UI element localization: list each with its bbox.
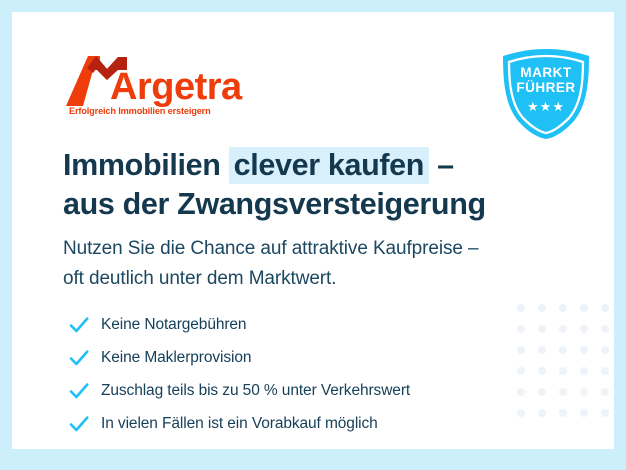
dot-decoration xyxy=(559,346,567,354)
check-icon xyxy=(66,411,92,437)
banner-card: Argetra Erfolgreich Immobilien ersteiger… xyxy=(12,12,614,449)
benefit-label: In vielen Fällen ist ein Vorabkauf mögli… xyxy=(101,415,378,433)
dot-decoration xyxy=(538,346,546,354)
headline-line-2: aus der Zwangsversteigerung xyxy=(63,185,583,224)
logo-tagline: Erfolgreich Immobilien ersteigern xyxy=(69,106,211,116)
dot-decoration xyxy=(601,304,609,312)
subheadline: Nutzen Sie die Chance auf attraktive Kau… xyxy=(63,234,583,294)
headline-text-before: Immobilien xyxy=(63,148,229,182)
check-icon xyxy=(66,345,92,371)
argetra-logo[interactable]: Argetra Erfolgreich Immobilien ersteiger… xyxy=(66,54,266,126)
dot-decoration xyxy=(559,388,567,396)
benefit-list-item: Keine Notargebühren xyxy=(66,310,536,340)
benefit-label: Zuschlag teils bis zu 50 % unter Verkehr… xyxy=(101,382,410,400)
headline-line-1: Immobilien clever kaufen – xyxy=(63,146,583,185)
check-icon xyxy=(66,378,92,404)
dot-decoration xyxy=(580,346,588,354)
benefit-list-item: Zuschlag teils bis zu 50 % unter Verkehr… xyxy=(66,376,536,406)
subheadline-line-2: oft deutlich unter dem Marktwert. xyxy=(63,268,336,289)
dot-decoration xyxy=(538,409,546,417)
dot-decoration xyxy=(559,409,567,417)
dot-decoration xyxy=(538,388,546,396)
subheadline-line-1: Nutzen Sie die Chance auf attraktive Kau… xyxy=(63,238,478,259)
promo-banner: Argetra Erfolgreich Immobilien ersteiger… xyxy=(0,0,626,470)
dot-decoration xyxy=(601,325,609,333)
dot-decoration xyxy=(580,409,588,417)
dot-decoration xyxy=(559,367,567,375)
dot-decoration xyxy=(601,346,609,354)
headline-highlight: clever kaufen xyxy=(229,147,429,184)
dot-decoration xyxy=(580,325,588,333)
dot-decoration xyxy=(538,367,546,375)
benefit-label: Keine Maklerprovision xyxy=(101,349,251,367)
headline: Immobilien clever kaufen – aus der Zwang… xyxy=(63,146,583,223)
benefit-list: Keine NotargebührenKeine Maklerprovision… xyxy=(66,310,536,442)
dot-decoration xyxy=(538,325,546,333)
dot-decoration xyxy=(580,367,588,375)
dot-decoration xyxy=(580,388,588,396)
dot-decoration xyxy=(580,304,588,312)
dot-decoration xyxy=(601,388,609,396)
benefit-label: Keine Notargebühren xyxy=(101,316,246,334)
dot-decoration xyxy=(601,367,609,375)
dot-decoration xyxy=(559,325,567,333)
check-icon xyxy=(66,312,92,338)
dot-decoration xyxy=(538,304,546,312)
headline-text-after: – xyxy=(429,148,454,182)
dot-decoration xyxy=(601,409,609,417)
dot-decoration xyxy=(559,304,567,312)
logo-wordmark: Argetra xyxy=(110,68,242,106)
benefit-list-item: Keine Maklerprovision xyxy=(66,343,536,373)
market-leader-badge: MARKT FÜHRER ★★★ xyxy=(499,48,593,140)
shield-icon xyxy=(499,48,593,140)
benefit-list-item: In vielen Fällen ist ein Vorabkauf mögli… xyxy=(66,409,536,439)
